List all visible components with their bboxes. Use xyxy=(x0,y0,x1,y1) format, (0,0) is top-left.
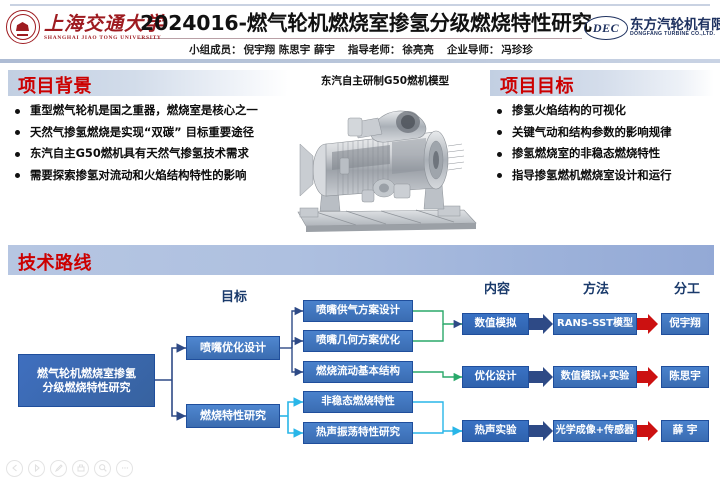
flow-node-goal-2[interactable]: 燃烧特性研究 xyxy=(186,404,280,428)
flow-node-item-4[interactable]: 非稳态燃烧特性 xyxy=(303,391,413,413)
column-header-goal: 目标 xyxy=(221,286,247,305)
section-header-tech-route: 技术路线 xyxy=(8,245,714,275)
section-header-background: 项目背景 xyxy=(8,70,288,96)
sjtu-logo: 上海交通大学 SHANGHAI JIAO TONG UNIVERSITY xyxy=(6,9,138,51)
page-title: 2024016-燃气轮机燃烧室掺氢分级燃烧特性研究 xyxy=(140,6,582,36)
advisor-label: 指导老师： xyxy=(348,44,401,56)
flow-node-goal-1[interactable]: 喷嘴优化设计 xyxy=(186,336,280,360)
company-name-cn: 东方汽轮机有限公司 xyxy=(630,13,720,33)
list-item: 天然气掺氢燃烧是实现“双碳” 目标重要途径 xyxy=(14,122,290,144)
dec-monogram-text: DEC xyxy=(593,21,619,36)
flow-node-assignee-1[interactable]: 倪宇翔 xyxy=(661,313,709,335)
figure-caption: 东汽自主研制G50燃机模型 xyxy=(290,73,480,88)
flow-node-item-3[interactable]: 燃烧流动基本结构 xyxy=(303,361,413,383)
previous-icon[interactable] xyxy=(6,460,23,477)
column-header-method: 方法 xyxy=(583,278,609,297)
print-icon[interactable] xyxy=(72,460,89,477)
tech-route-flowchart: 目标 内容 方法 分工 燃气轮机燃烧室掺氢 分级燃烧特性研究 喷嘴优化设计 燃烧… xyxy=(0,276,720,462)
flow-node-method-3[interactable]: 光学成像+传感器 xyxy=(553,420,637,442)
column-header-assignment: 分工 xyxy=(674,278,700,297)
flow-node-content-1[interactable]: 数值模拟 xyxy=(462,313,529,335)
zoom-icon[interactable] xyxy=(94,460,111,477)
members-value: 倪宇翔 陈思宇 薛宇 xyxy=(244,44,335,56)
background-title: 项目背景 xyxy=(18,72,92,98)
mentor-label: 企业导师： xyxy=(447,44,500,56)
flow-node-content-2[interactable]: 优化设计 xyxy=(462,366,529,388)
list-item: 重型燃气轮机是国之重器，燃烧室是核心之一 xyxy=(14,100,290,122)
flow-node-item-5[interactable]: 热声振荡特性研究 xyxy=(303,422,413,444)
flow-node-assignee-3[interactable]: 薛 宇 xyxy=(661,420,709,442)
dec-monogram-icon: DEC xyxy=(584,16,628,40)
list-item: 掺氢火焰结构的可视化 xyxy=(496,100,720,122)
tech-route-title: 技术路线 xyxy=(18,249,92,275)
root-line-1: 燃气轮机燃烧室掺氢 xyxy=(37,367,136,381)
mentor-value: 冯珍珍 xyxy=(501,44,533,56)
company-name-en: DONGFANG TURBINE CO.,LTD. xyxy=(630,31,715,37)
column-header-content: 内容 xyxy=(484,278,510,297)
flow-node-item-2[interactable]: 喷嘴几何方案优化 xyxy=(303,330,413,352)
flow-node-method-1[interactable]: RANS-SST模型 xyxy=(553,313,637,335)
gas-turbine-image xyxy=(286,92,486,234)
flow-node-method-2[interactable]: 数值模拟+实验 xyxy=(553,366,637,388)
advisor-value: 徐亮亮 xyxy=(402,44,434,56)
section-header-objectives: 项目目标 xyxy=(490,70,714,96)
credits-line: 小组成员：倪宇翔 陈思宇 薛宇指导老师：徐亮亮企业导师：冯珍珍 xyxy=(140,42,582,57)
viewer-toolbar xyxy=(6,458,156,478)
list-item: 掺氢燃烧室的非稳态燃烧特性 xyxy=(496,143,720,165)
list-item: 关键气动和结构参数的影响规律 xyxy=(496,122,720,144)
list-item: 东汽自主G50燃机具有天然气掺氢技术需求 xyxy=(14,143,290,165)
background-list: 重型燃气轮机是国之重器，燃烧室是核心之一 天然气掺氢燃烧是实现“双碳” 目标重要… xyxy=(14,100,290,186)
flow-node-item-1[interactable]: 喷嘴供气方案设计 xyxy=(303,300,413,322)
more-icon[interactable] xyxy=(116,460,133,477)
list-item: 指导掺氢燃机燃烧室设计和运行 xyxy=(496,165,720,187)
members-label: 小组成员： xyxy=(189,44,242,56)
flow-node-content-3[interactable]: 热声实验 xyxy=(462,420,529,442)
list-item: 需要探索掺氢对流动和火焰结构特性的影响 xyxy=(14,165,290,187)
play-icon[interactable] xyxy=(28,460,45,477)
pen-icon[interactable] xyxy=(50,460,67,477)
objectives-title: 项目目标 xyxy=(500,72,574,98)
flow-node-assignee-2[interactable]: 陈思宇 xyxy=(661,366,709,388)
slide-root: 上海交通大学 SHANGHAI JIAO TONG UNIVERSITY 202… xyxy=(0,0,720,480)
sjtu-seal-icon xyxy=(6,10,40,44)
flow-node-root[interactable]: 燃气轮机燃烧室掺氢 分级燃烧特性研究 xyxy=(18,354,155,407)
slide-header: 上海交通大学 SHANGHAI JIAO TONG UNIVERSITY 202… xyxy=(0,0,720,62)
dec-logo: DEC 东方汽轮机有限公司 DONGFANG TURBINE CO.,LTD. xyxy=(584,12,716,48)
header-bottom-band xyxy=(0,59,720,63)
objectives-list: 掺氢火焰结构的可视化 关键气动和结构参数的影响规律 掺氢燃烧室的非稳态燃烧特性 … xyxy=(496,100,720,186)
root-line-2: 分级燃烧特性研究 xyxy=(43,381,131,395)
header-divider-rule xyxy=(138,38,582,39)
